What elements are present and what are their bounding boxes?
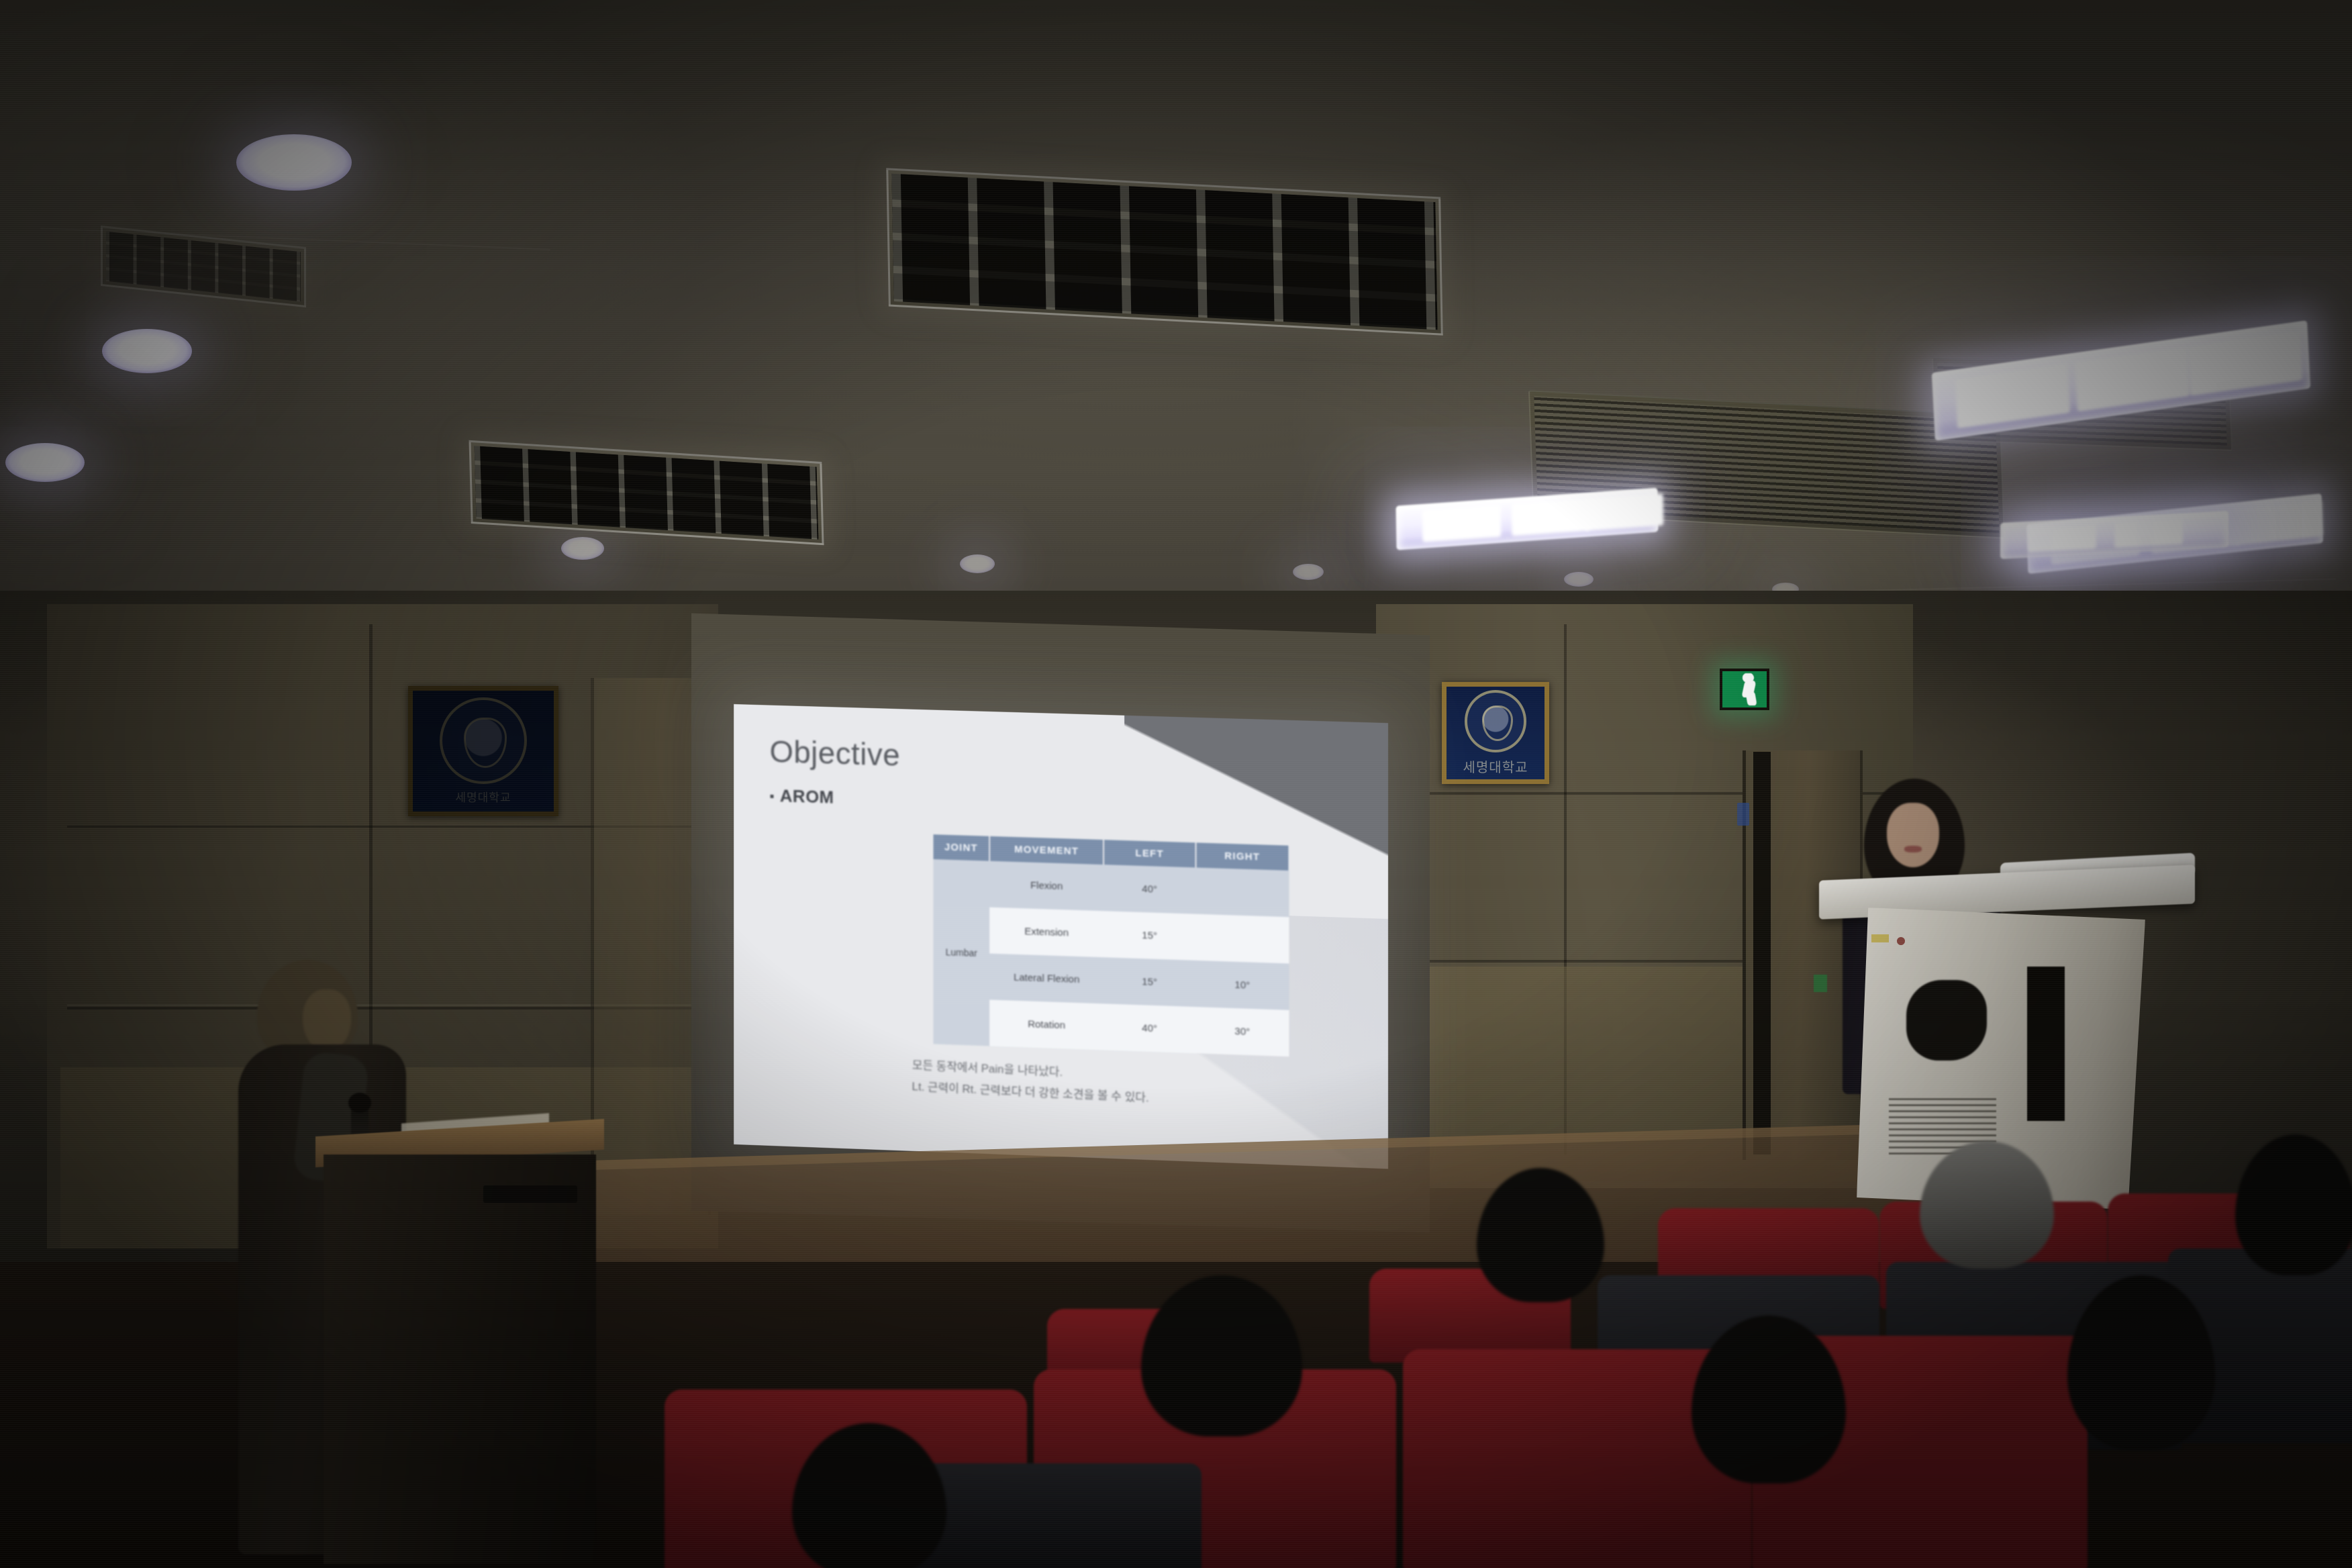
downlight-icon xyxy=(1564,572,1594,587)
th-right: RIGHT xyxy=(1195,842,1289,871)
podium-label-sticker xyxy=(1871,934,1889,942)
tube xyxy=(1955,363,2070,428)
slide-bullet-arom: ▪AROM xyxy=(770,785,1352,824)
university-crest-icon xyxy=(440,697,527,785)
downlight-icon xyxy=(102,329,192,373)
ceiling-troffer-light xyxy=(886,168,1442,336)
cell-right xyxy=(1195,914,1289,964)
side-lectern xyxy=(315,1128,604,1564)
slide-notes: 모든 동작에서 Pain을 나타났다. Lt. 근력이 Rt. 근력보다 더 강… xyxy=(912,1055,1342,1119)
tube xyxy=(1511,499,1590,536)
tube xyxy=(2075,346,2190,411)
cell-movement: Rotation xyxy=(989,999,1104,1050)
lectern-body xyxy=(324,1155,596,1564)
cell-movement: Flexion xyxy=(989,861,1104,911)
th-left: LEFT xyxy=(1104,840,1195,867)
cell-movement: Extension xyxy=(989,908,1104,958)
cell-left: 15° xyxy=(1104,911,1195,961)
downlight-icon xyxy=(1293,564,1324,580)
exit-sign-icon xyxy=(1720,669,1769,710)
wall-plaque-right: 세명대학교 xyxy=(1442,682,1549,784)
th-joint: JOINT xyxy=(934,834,990,861)
downlight-icon xyxy=(960,554,995,573)
running-person-glyph xyxy=(1737,673,1763,705)
cell-right xyxy=(1195,867,1289,917)
lips xyxy=(1904,846,1922,852)
cell-left: 40° xyxy=(1104,865,1195,914)
tube xyxy=(2028,523,2096,552)
face xyxy=(1887,803,1939,867)
plaque-label: 세명대학교 xyxy=(1463,756,1528,776)
tube xyxy=(2188,331,2303,395)
podium-status-light xyxy=(1814,975,1827,992)
tube xyxy=(1422,505,1502,542)
door-gap xyxy=(1753,752,1771,1155)
university-crest-icon xyxy=(1465,690,1527,752)
door-placard xyxy=(1737,803,1749,826)
bullet-text: AROM xyxy=(780,785,834,807)
slide-title: Objective xyxy=(770,733,1352,787)
lectern-slot xyxy=(483,1185,577,1203)
wall-plaque-left: 세명대학교 xyxy=(408,686,558,816)
arom-table: JOINT MOVEMENT LEFT RIGHT Lumbar Flexion… xyxy=(934,834,1290,1057)
podium-equipment-bay xyxy=(2027,967,2065,1121)
downlight-icon xyxy=(561,537,604,560)
tube xyxy=(2233,500,2323,545)
podium-cutout xyxy=(1906,980,1987,1061)
th-movement: MOVEMENT xyxy=(989,836,1104,865)
slide-content: Objective ▪AROM JOINT MOVEMENT LEFT RIGH… xyxy=(734,704,1388,1169)
downlight-icon xyxy=(5,443,85,482)
louver-grid xyxy=(475,446,819,539)
cell-joint: Lumbar xyxy=(934,859,990,1046)
cell-left: 15° xyxy=(1104,957,1195,1007)
louver-grid xyxy=(891,174,1437,330)
ceiling xyxy=(0,0,2352,671)
downlight-icon xyxy=(236,134,352,191)
tube xyxy=(2114,518,2183,548)
projection-screen: Objective ▪AROM JOINT MOVEMENT LEFT RIGH… xyxy=(734,704,1388,1169)
tube xyxy=(1584,493,1663,531)
plaque-label: 세명대학교 xyxy=(455,788,511,805)
cell-right: 10° xyxy=(1195,961,1289,1010)
lecture-hall-photo: 세명대학교 세명대학교 Objective ▪AROM JOINT MOVE xyxy=(0,0,2352,1568)
face xyxy=(303,989,351,1051)
cell-right: 30° xyxy=(1195,1007,1289,1057)
bullet-marker-icon: ▪ xyxy=(770,789,775,803)
podium-indicator-led xyxy=(1897,937,1905,945)
cell-left: 40° xyxy=(1104,1003,1195,1053)
cell-movement: Lateral Flexion xyxy=(989,954,1104,1004)
